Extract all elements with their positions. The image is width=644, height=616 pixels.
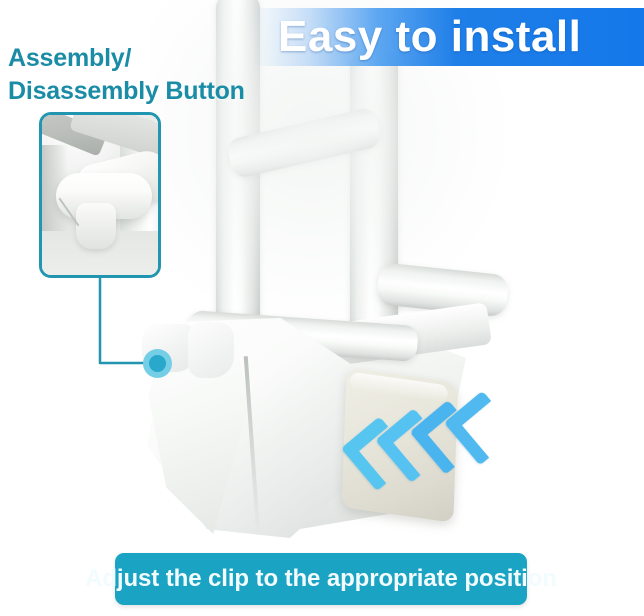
caption-bar: Adjust the clip to the appropriate posit…: [115, 553, 527, 605]
caption-text: Adjust the clip to the appropriate posit…: [85, 567, 557, 591]
callout-marker-dot: [143, 349, 172, 378]
callout-label: Assembly/ Disassembly Button: [8, 42, 318, 108]
detail-inset-photo: [42, 115, 158, 275]
callout-label-line-2: Disassembly Button: [8, 75, 318, 108]
infographic-canvas: Easy to install Assembly/ Disassembly Bu…: [0, 0, 644, 616]
inset-button-foot: [76, 203, 116, 249]
product-release-knob-secondary: [188, 322, 234, 378]
callout-label-line-1: Assembly/: [8, 42, 318, 75]
direction-arrows-group: [342, 365, 496, 526]
detail-inset-box: [39, 112, 161, 278]
